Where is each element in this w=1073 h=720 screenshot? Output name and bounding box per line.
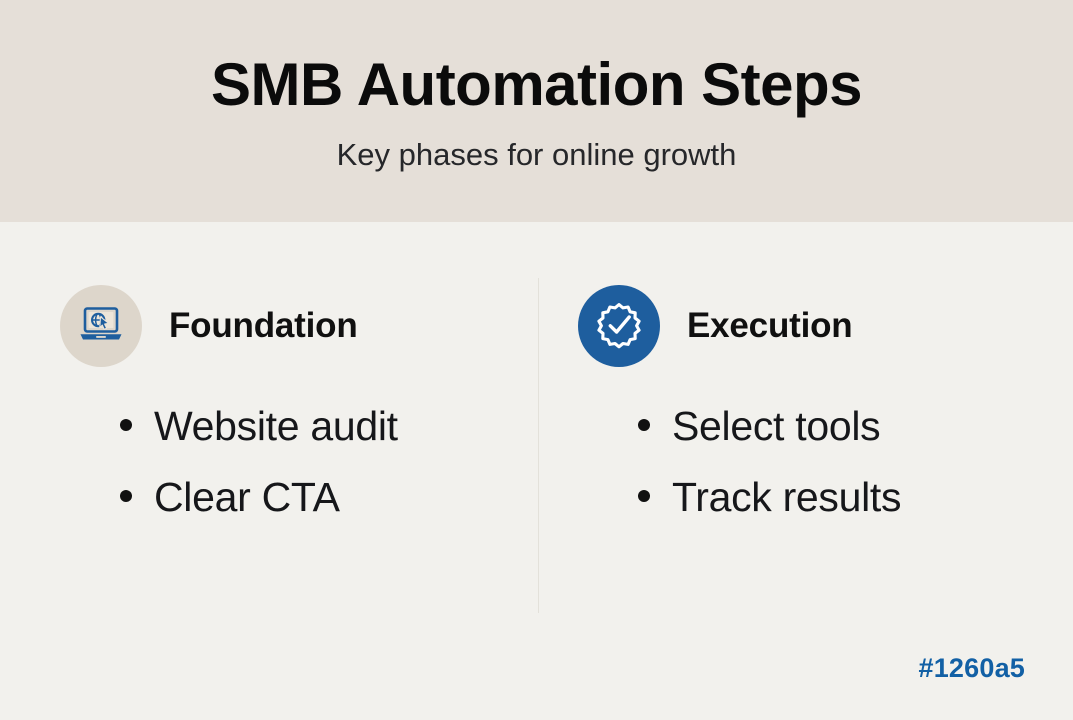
bullet-dot-icon (120, 490, 132, 502)
foundation-bullet-list: Website audit Clear CTA (120, 404, 398, 546)
execution-bullet-list: Select tools Track results (638, 404, 901, 546)
footer-tag: #1260a5 (918, 653, 1025, 684)
column-divider (538, 278, 539, 613)
list-item: Website audit (120, 404, 398, 450)
bullet-dot-icon (120, 419, 132, 431)
slide-canvas: SMB Automation Steps Key phases for onli… (0, 0, 1073, 720)
list-item-label: Select tools (672, 404, 880, 450)
columns-area: Foundation Website audit Clear CTA (0, 222, 1073, 720)
column-foundation-header: Foundation (60, 280, 358, 372)
page-subtitle: Key phases for online growth (0, 135, 1073, 175)
column-execution-title: Execution (687, 306, 852, 346)
column-foundation-title: Foundation (169, 306, 358, 346)
page-title: SMB Automation Steps (0, 53, 1073, 116)
list-item: Select tools (638, 404, 901, 450)
bullet-dot-icon (638, 419, 650, 431)
column-execution-header: Execution (578, 280, 852, 372)
bullet-dot-icon (638, 490, 650, 502)
list-item-label: Website audit (154, 404, 398, 450)
header-band: SMB Automation Steps Key phases for onli… (0, 0, 1073, 222)
verified-check-badge-icon (594, 299, 644, 354)
list-item-label: Track results (672, 475, 901, 521)
execution-icon-circle (578, 285, 660, 367)
laptop-globe-cursor-icon (76, 299, 126, 354)
list-item-label: Clear CTA (154, 475, 340, 521)
foundation-icon-circle (60, 285, 142, 367)
list-item: Clear CTA (120, 475, 398, 521)
list-item: Track results (638, 475, 901, 521)
